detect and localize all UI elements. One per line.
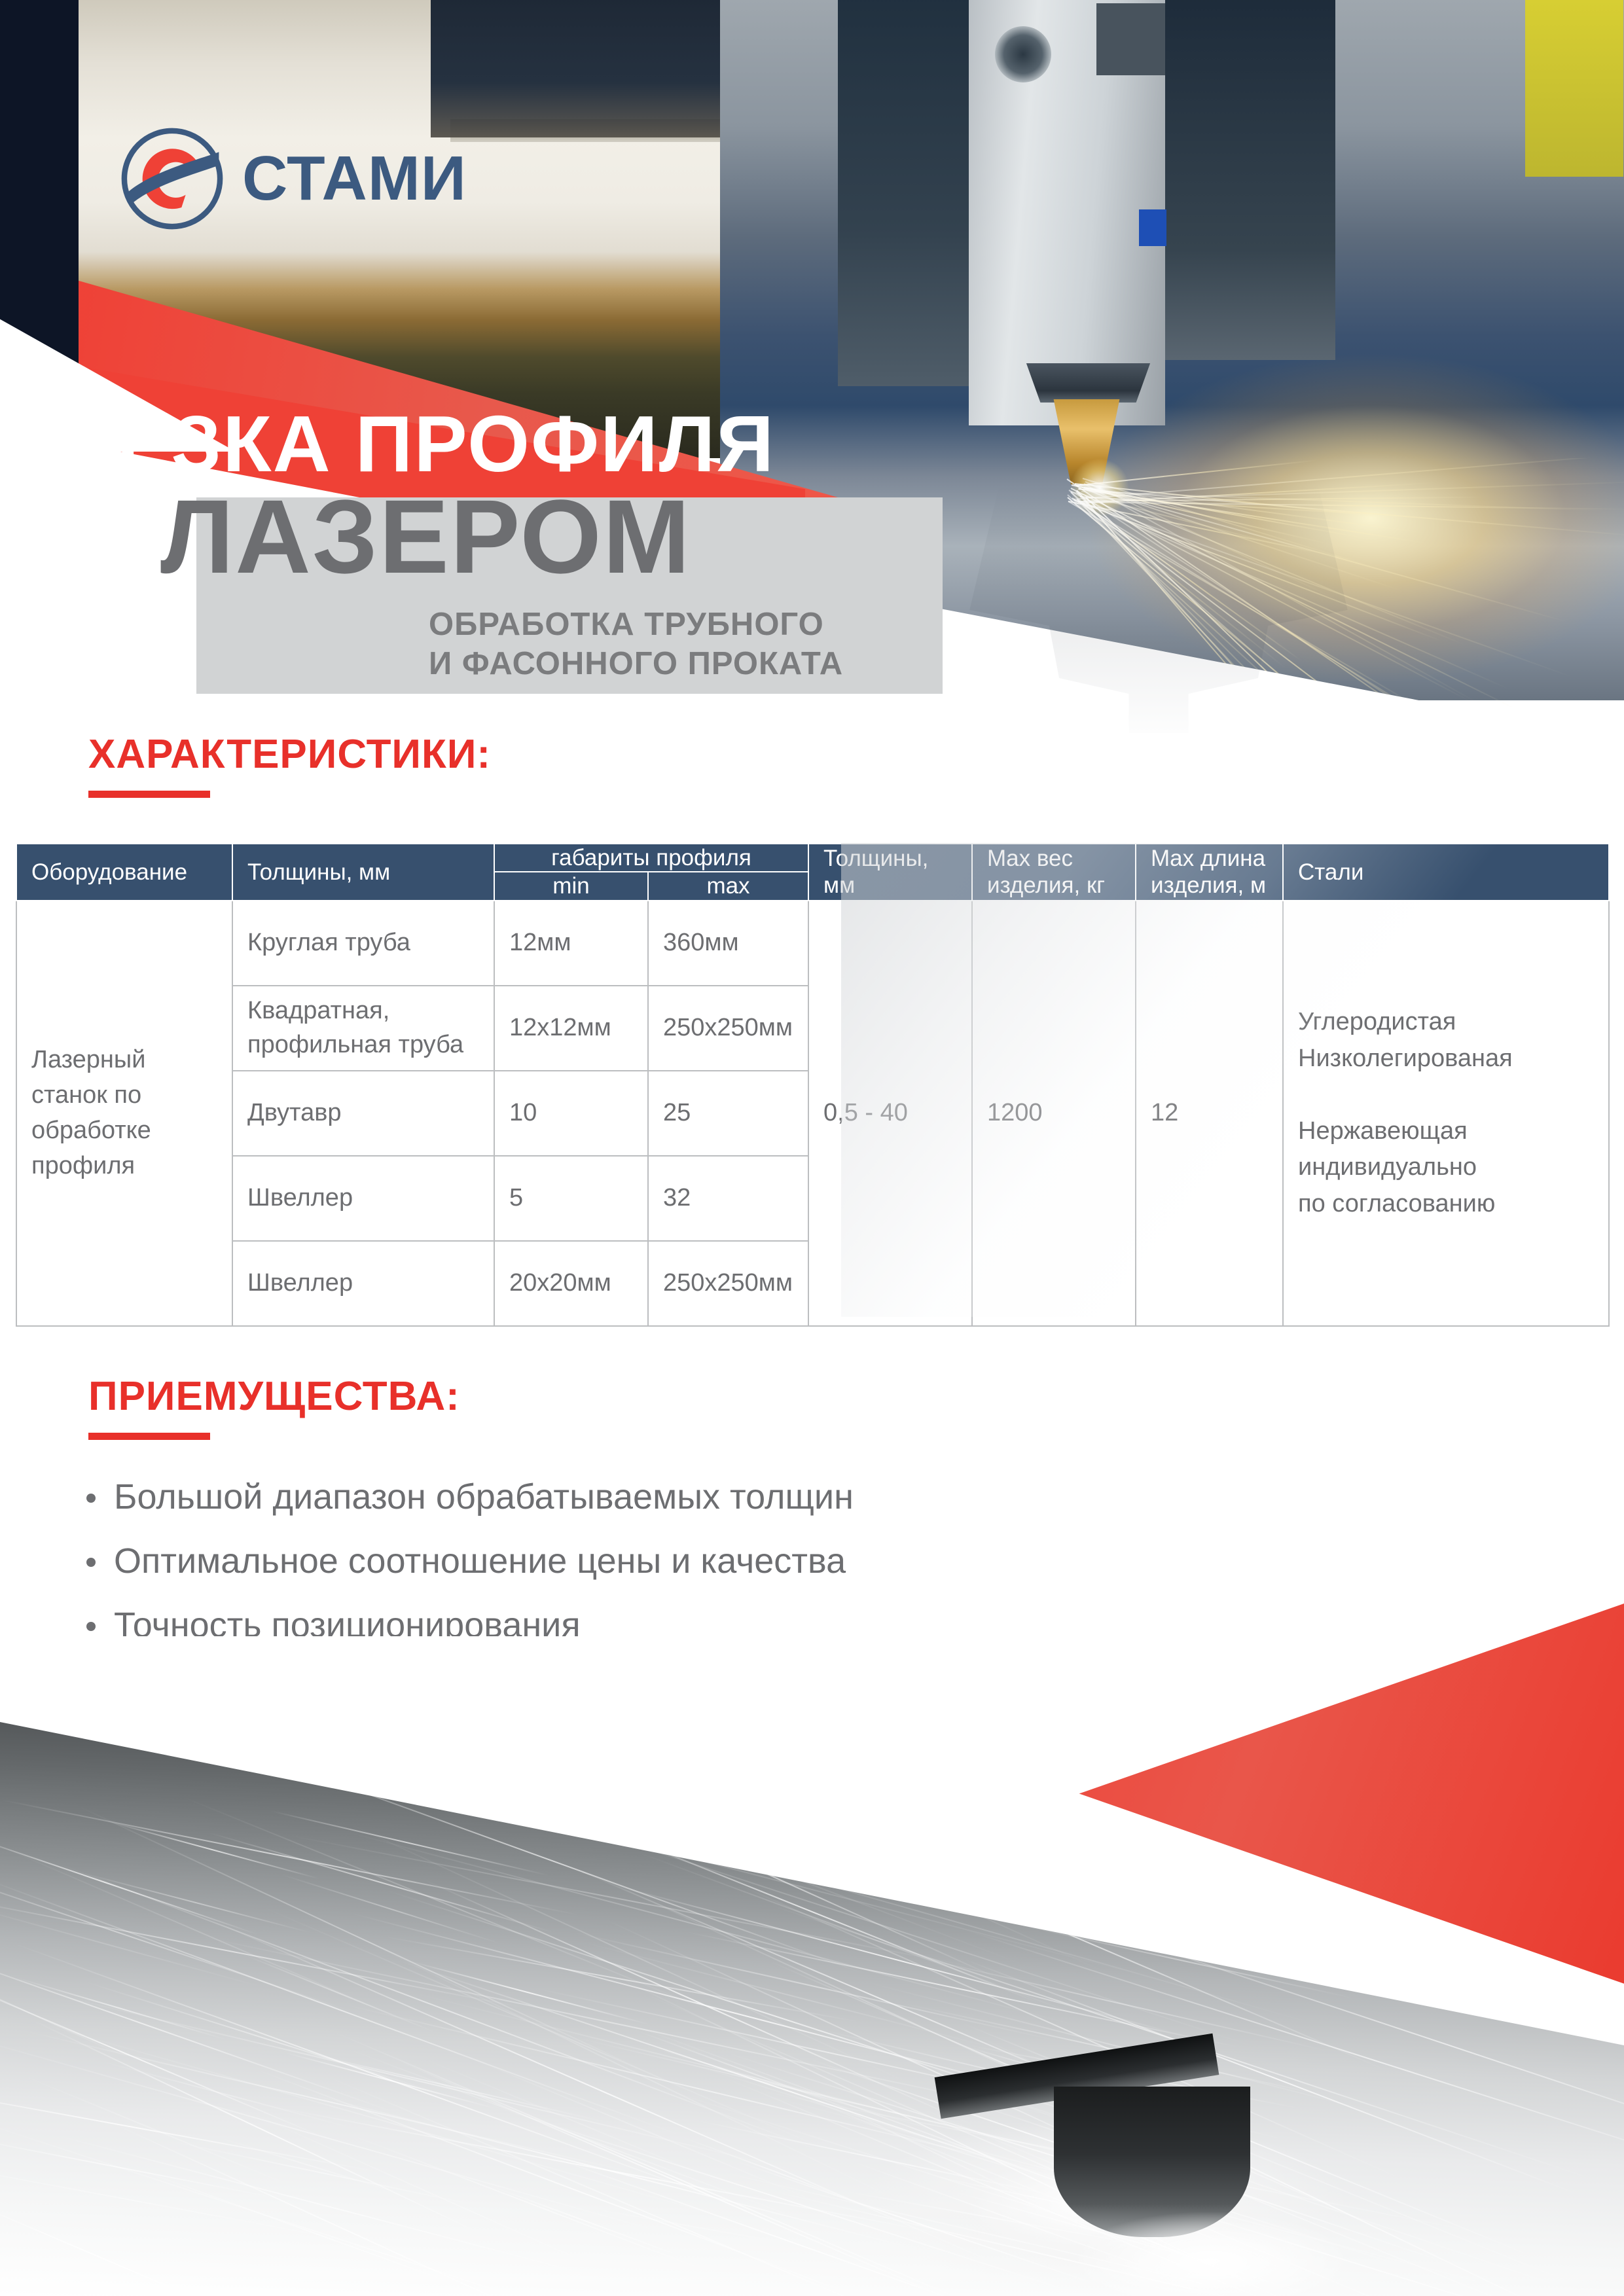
cell-max: 360мм	[648, 901, 808, 986]
th-steels: Стали	[1283, 844, 1609, 901]
specifications-table: Оборудование Толщины, мм габариты профил…	[16, 843, 1610, 1327]
cell-steels: Углеродистая Низколегированая Нержавеюща…	[1283, 901, 1609, 1326]
hero-title-sub: ЛАЗЕРОМ	[160, 484, 691, 589]
cell-equipment-name: Лазерный станок по обработке профиля	[16, 901, 232, 1326]
hero-caption: ОБРАБОТКА ТРУБНОГО И ФАСОННОГО ПРОКАТА	[429, 605, 843, 684]
cell-min: 5	[494, 1156, 648, 1241]
cell-max: 250x250мм	[648, 986, 808, 1071]
table-body: Лазерный станок по обработке профиля Кру…	[16, 901, 1609, 1326]
table-header-row-1: Оборудование Толщины, мм габариты профил…	[16, 844, 1609, 872]
laser-head-plate	[1096, 3, 1165, 75]
th-equipment: Оборудование	[16, 844, 232, 901]
cell-min: 12мм	[494, 901, 648, 986]
th-min: min	[494, 872, 648, 900]
list-item-label: Оптимальное соотношение цены и качества	[114, 1541, 846, 1581]
cell-profile-type: Швеллер	[232, 1241, 494, 1326]
cell-min: 10	[494, 1071, 648, 1156]
cell-profile-type: Квадратная, профильная труба	[232, 986, 494, 1071]
th-max-length: Max длина изделия, м	[1136, 844, 1283, 901]
table-row: Лазерный станок по обработке профиля Кру…	[16, 901, 1609, 986]
bullet-icon	[86, 1494, 96, 1503]
list-item: Оптимальное соотношение цены и качества	[84, 1543, 1197, 1579]
th-dimensions: габариты профиля	[494, 844, 808, 872]
bullet-icon	[86, 1558, 96, 1567]
cell-min: 12x12мм	[494, 986, 648, 1071]
footer-laser-glow	[1074, 2212, 1348, 2296]
hero-banner: СТАМИ РЕЗКА ПРОФИЛЯ ЛАЗЕРОМ ОБРАБОТКА ТР…	[0, 0, 1624, 733]
laser-machine-yellow-panel	[1525, 0, 1623, 177]
advantages-heading-rule	[88, 1433, 210, 1440]
cell-max-length: 12	[1136, 901, 1283, 1326]
cell-thickness-sheet: 0,5 - 40	[808, 901, 972, 1326]
specs-heading-rule	[88, 791, 210, 798]
brand-name: СТАМИ	[242, 147, 467, 210]
advantages-heading: ПРИЕМУЩЕСТВА:	[88, 1373, 460, 1420]
brand-logo: СТАМИ	[117, 123, 467, 234]
laser-machine-left-column	[838, 0, 975, 386]
th-max-weight: Max вес изделия, кг	[972, 844, 1136, 901]
laser-nozzle-cap	[1018, 363, 1159, 403]
list-item: Большой диапазон обрабатываемых толщин	[84, 1479, 1197, 1515]
laser-machine-right-column	[1165, 0, 1335, 360]
stami-logo-icon	[117, 123, 228, 234]
cell-max: 25	[648, 1071, 808, 1156]
th-thickness-profile: Толщины, мм	[232, 844, 494, 901]
th-thickness-sheet: Толщины, мм	[808, 844, 972, 901]
cell-min: 20x20мм	[494, 1241, 648, 1326]
cell-max: 32	[648, 1156, 808, 1241]
cell-profile-type: Круглая труба	[232, 901, 494, 986]
laser-head-blue-label	[1139, 209, 1166, 246]
list-item-label: Большой диапазон обрабатываемых толщин	[114, 1477, 854, 1516]
poster-page: СТАМИ РЕЗКА ПРОФИЛЯ ЛАЗЕРОМ ОБРАБОТКА ТР…	[0, 0, 1624, 2296]
cell-max-weight: 1200	[972, 901, 1136, 1326]
cell-profile-type: Двутавр	[232, 1071, 494, 1156]
specs-heading: ХАРАКТЕРИСТИКИ:	[88, 731, 491, 778]
th-max: max	[648, 872, 808, 900]
cell-profile-type: Швеллер	[232, 1156, 494, 1241]
hero-title-main: РЕЗКА ПРОФИЛЯ	[62, 404, 775, 484]
laser-lens-icon	[995, 26, 1051, 82]
bullet-icon	[86, 1622, 96, 1631]
cell-max: 250x250мм	[648, 1241, 808, 1326]
